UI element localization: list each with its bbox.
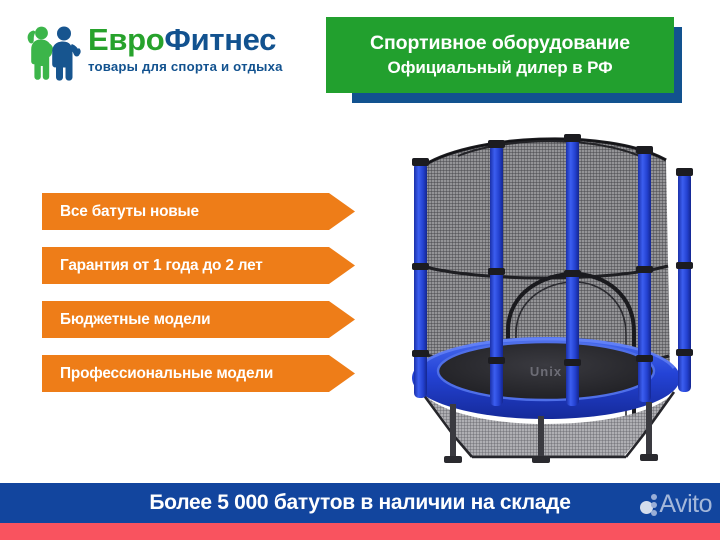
feature-label-4: Профессиональные модели	[42, 365, 273, 383]
header-banner-line1: Спортивное оборудование	[370, 30, 630, 56]
header-banner-line2: Официальный дилер в РФ	[387, 56, 612, 80]
logo-tagline: товары для спорта и отдыха	[88, 59, 322, 75]
feature-label-2: Гарантия от 1 года до 2 лет	[42, 257, 263, 275]
bottom-accent-strip	[0, 523, 720, 540]
feature-label-1: Все батуты новые	[42, 203, 199, 221]
avito-watermark: Avito	[640, 486, 712, 522]
feature-list: Все батуты новые Гарантия от 1 года до 2…	[42, 193, 362, 392]
avito-wordmark: Avito	[659, 491, 712, 517]
logo-main-text: ЕвроФитнес	[88, 22, 322, 58]
logo-wordmark: ЕвроФитнес товары для спорта и отдыха	[88, 22, 322, 75]
product-image-trampoline: Unix	[398, 116, 708, 476]
bottom-banner-text: Более 5 000 батутов в наличии на складе	[149, 491, 570, 515]
brand-logo: ЕвроФитнес товары для спорта и отдыха	[22, 22, 322, 86]
feature-arrow-2: Гарантия от 1 года до 2 лет	[42, 247, 355, 284]
feature-arrow-1: Все батуты новые	[42, 193, 355, 230]
logo-word-green: Евро	[88, 22, 164, 57]
bottom-banner: Более 5 000 батутов в наличии на складе	[0, 483, 720, 523]
female-athlete-icon	[28, 27, 54, 80]
feature-arrow-3: Бюджетные модели	[42, 301, 355, 338]
avito-dots-icon	[640, 493, 657, 515]
svg-text:Unix: Unix	[530, 364, 562, 379]
male-athlete-icon	[52, 27, 80, 81]
logo-word-blue: Фитнес	[164, 22, 276, 57]
header-banner: Спортивное оборудование Официальный диле…	[326, 17, 674, 93]
poster-canvas: ЕвроФитнес товары для спорта и отдыха Сп…	[0, 0, 720, 540]
feature-label-3: Бюджетные модели	[42, 311, 210, 329]
logo-figures-group	[22, 24, 86, 82]
feature-arrow-4: Профессиональные модели	[42, 355, 355, 392]
